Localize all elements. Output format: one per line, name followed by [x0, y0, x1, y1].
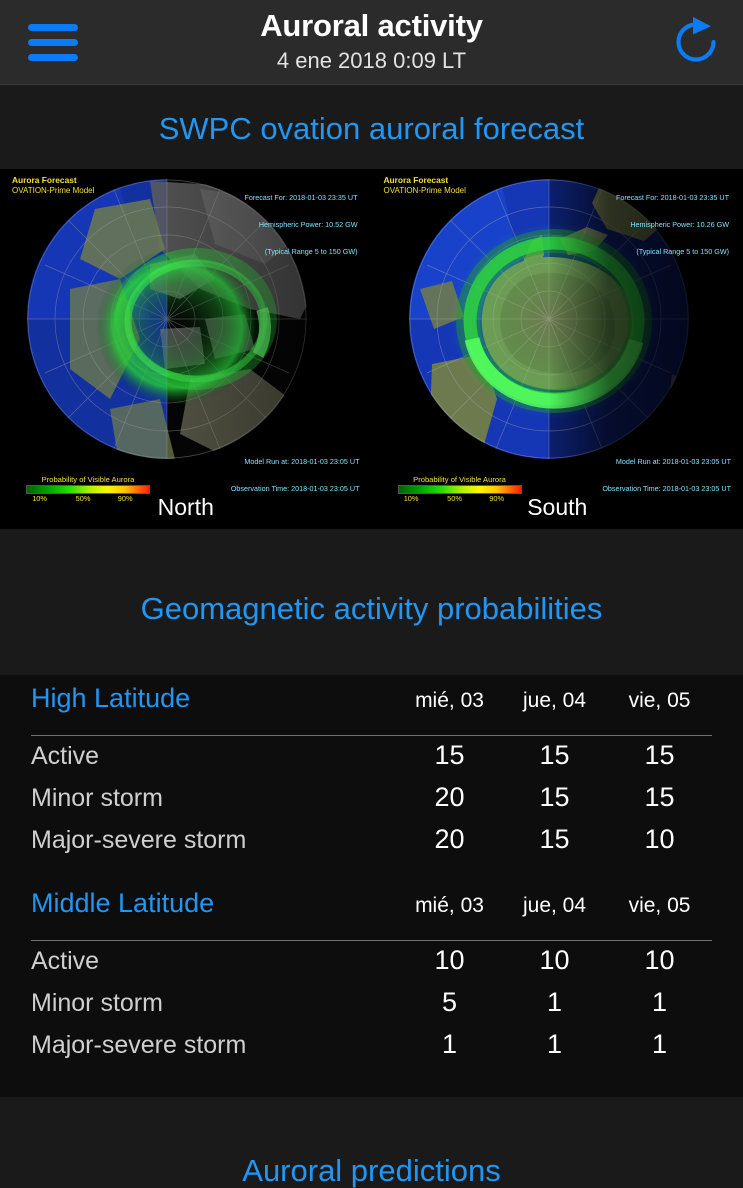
row-value: 10: [502, 945, 607, 976]
north-map-label: North: [0, 494, 372, 521]
table-header-row: High Latitude mié, 03 jue, 04 vie, 05: [31, 683, 712, 735]
column-header-day-1: mié, 03: [397, 894, 502, 918]
row-value: 15: [502, 782, 607, 813]
table-row: Minor storm 5 1 1: [31, 987, 712, 1029]
row-value: 15: [502, 824, 607, 855]
row-value: 1: [502, 1029, 607, 1060]
row-value: 20: [397, 824, 502, 855]
row-value: 15: [397, 740, 502, 771]
row-value: 20: [397, 782, 502, 813]
auroral-predictions-heading[interactable]: Auroral predictions: [0, 1097, 743, 1188]
row-value: 15: [607, 740, 712, 771]
row-label: Minor storm: [31, 784, 397, 813]
page-title: Auroral activity: [0, 6, 743, 46]
north-legend-title: Probability of Visible Aurora: [26, 475, 150, 485]
table-title[interactable]: Middle Latitude: [31, 888, 397, 919]
swpc-section-heading[interactable]: SWPC ovation auroral forecast: [0, 85, 743, 169]
table-row: Major-severe storm 20 15 10: [31, 824, 712, 866]
row-value: 1: [397, 1029, 502, 1060]
row-value: 1: [607, 1029, 712, 1060]
refresh-icon[interactable]: [667, 13, 725, 71]
row-value: 1: [502, 987, 607, 1018]
row-value: 10: [607, 945, 712, 976]
row-label: Active: [31, 947, 397, 976]
row-label: Major-severe storm: [31, 826, 397, 855]
south-legend-title: Probability of Visible Aurora: [398, 475, 522, 485]
north-legend-colorbar: [26, 485, 150, 494]
geomagnetic-section-heading[interactable]: Geomagnetic activity probabilities: [0, 529, 743, 675]
row-value: 10: [607, 824, 712, 855]
row-value: 5: [397, 987, 502, 1018]
column-header-day-2: jue, 04: [502, 689, 607, 713]
ovation-map-north[interactable]: Aurora Forecast OVATION-Prime Model Fore…: [0, 169, 372, 529]
table-row: Active 10 10 10: [31, 945, 712, 987]
table-high-latitude: High Latitude mié, 03 jue, 04 vie, 05 Ac…: [0, 683, 743, 866]
ovation-map-south[interactable]: Aurora Forecast OVATION-Prime Model Fore…: [372, 169, 743, 529]
row-label: Major-severe storm: [31, 1031, 397, 1060]
column-header-day-3: vie, 05: [607, 894, 712, 918]
ovation-map-strip: Aurora Forecast OVATION-Prime Model Fore…: [0, 169, 743, 529]
column-header-day-3: vie, 05: [607, 689, 712, 713]
table-row: Minor storm 20 15 15: [31, 782, 712, 824]
table-middle-latitude: Middle Latitude mié, 03 jue, 04 vie, 05 …: [0, 888, 743, 1071]
table-divider: [31, 735, 712, 736]
column-header-day-2: jue, 04: [502, 894, 607, 918]
row-value: 15: [502, 740, 607, 771]
table-spacer: [0, 866, 743, 888]
table-title[interactable]: High Latitude: [31, 683, 397, 714]
row-label: Minor storm: [31, 989, 397, 1018]
row-label: Active: [31, 742, 397, 771]
header-title-group: Auroral activity 4 ene 2018 0:09 LT: [0, 6, 743, 76]
row-value: 10: [397, 945, 502, 976]
column-header-day-1: mié, 03: [397, 689, 502, 713]
page-timestamp: 4 ene 2018 0:09 LT: [0, 46, 743, 76]
app-header: Auroral activity 4 ene 2018 0:09 LT: [0, 0, 743, 85]
table-divider: [31, 940, 712, 941]
south-map-label: South: [372, 494, 743, 521]
table-header-row: Middle Latitude mié, 03 jue, 04 vie, 05: [31, 888, 712, 940]
south-legend-colorbar: [398, 485, 522, 494]
row-value: 15: [607, 782, 712, 813]
table-row: Active 15 15 15: [31, 740, 712, 782]
table-row: Major-severe storm 1 1 1: [31, 1029, 712, 1071]
geomagnetic-tables: High Latitude mié, 03 jue, 04 vie, 05 Ac…: [0, 675, 743, 1097]
row-value: 1: [607, 987, 712, 1018]
